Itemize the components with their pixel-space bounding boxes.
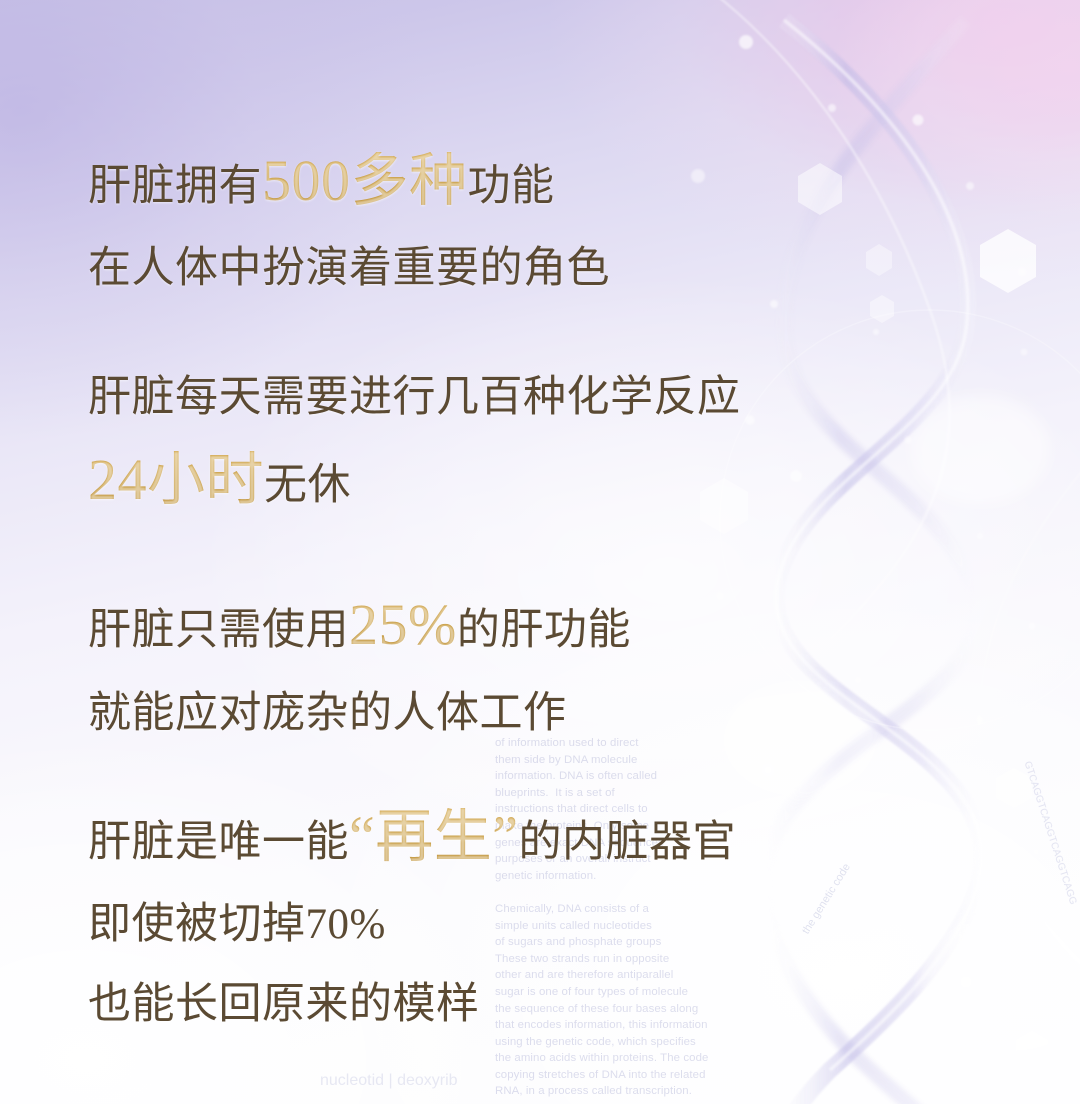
- fact-text: 无休: [264, 464, 351, 507]
- fact-text: 的肝功能: [457, 609, 631, 652]
- fact-text: 肝脏拥有: [88, 165, 262, 208]
- fact-line: 也能长回原来的模样: [88, 983, 736, 1026]
- fact-line: 肝脏是唯一能“再生”的内脏器官: [88, 808, 736, 866]
- fact-text: 的内脏器官: [519, 821, 737, 864]
- fact-highlight: 24小时: [88, 451, 264, 509]
- fact-line: 肝脏每天需要进行几百种化学反应: [88, 376, 741, 419]
- infographic-poster: of information used to direct them side …: [0, 0, 1080, 1104]
- fact-list: 肝脏拥有500多种功能 在人体中扮演着重要的角色 肝脏每天需要进行几百种化学反应…: [88, 0, 988, 1104]
- fact-block-reactions: 肝脏每天需要进行几百种化学反应 24小时无休: [88, 376, 741, 509]
- fact-line: 肝脏拥有500多种功能: [88, 152, 610, 210]
- fact-text: 功能: [468, 165, 555, 208]
- fact-line: 肝脏只需使用25%的肝功能: [88, 596, 631, 654]
- fact-line: 在人体中扮演着重要的角色: [88, 247, 610, 290]
- fact-block-functions: 肝脏拥有500多种功能 在人体中扮演着重要的角色: [88, 152, 610, 290]
- fact-text: 肝脏只需使用: [88, 609, 349, 652]
- open-quote-mark: “: [349, 808, 375, 866]
- fact-text: 肝脏是唯一能: [88, 821, 349, 864]
- fact-highlight: 再生: [375, 808, 492, 866]
- fact-block-regeneration: 肝脏是唯一能“再生”的内脏器官 即使被切掉70% 也能长回原来的模样: [88, 808, 736, 1026]
- fact-line: 即使被切掉70%: [88, 903, 736, 946]
- fact-highlight: 500多种: [262, 152, 468, 210]
- fact-line: 就能应对庞杂的人体工作: [88, 692, 631, 735]
- close-quote-mark: ”: [492, 808, 518, 866]
- fact-line: 24小时无休: [88, 451, 741, 509]
- fact-highlight: 25%: [349, 596, 457, 654]
- fact-block-capacity: 肝脏只需使用25%的肝功能 就能应对庞杂的人体工作: [88, 596, 631, 735]
